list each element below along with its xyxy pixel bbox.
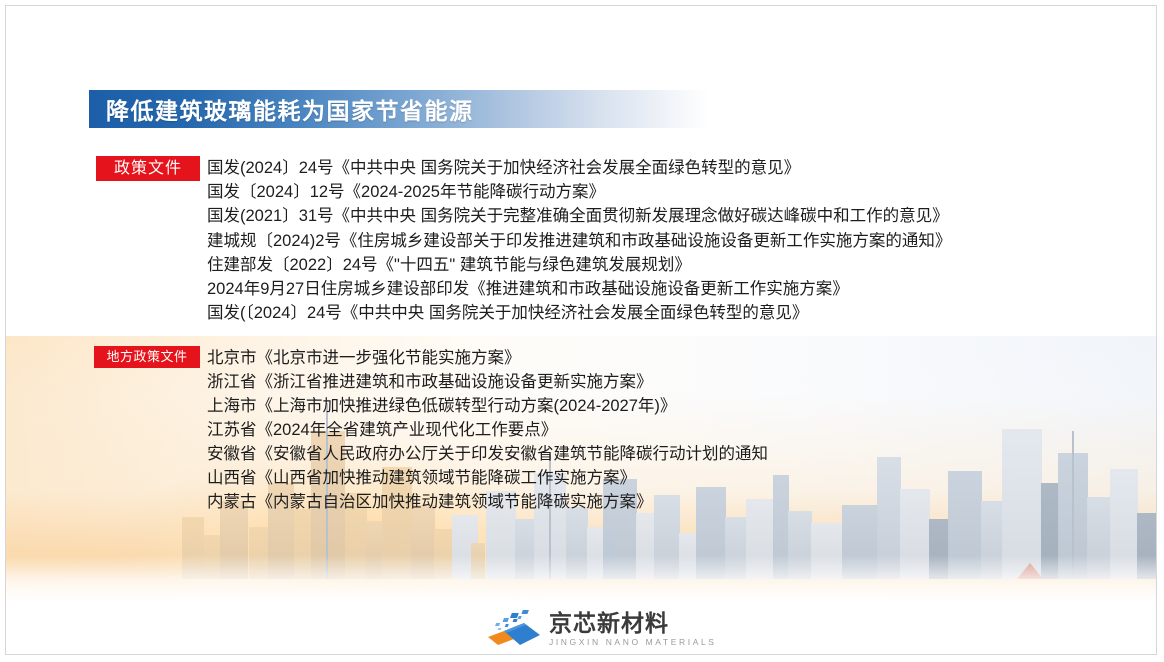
- list-item: 浙江省《浙江省推进建筑和市政基础设施设备更新实施方案》: [207, 370, 768, 394]
- local-policy-document-list: 北京市《北京市进一步强化节能实施方案》 浙江省《浙江省推进建筑和市政基础设施设备…: [207, 346, 768, 514]
- list-item: 安徽省《安徽省人民政府办公厅关于印发安徽省建筑节能降碳行动计划的通知: [207, 442, 768, 466]
- slide-canvas: 降低建筑玻璃能耗为国家节省能源 政策文件 国发(2024〕24号《中共中央 国务…: [5, 5, 1157, 655]
- list-item: 2024年9月27日住房城乡建设部印发《推进建筑和市政基础设施设备更新工作实施方…: [207, 277, 951, 301]
- list-item: 国发(2021〕31号《中共中央 国务院关于完整准确全面贯彻新发展理念做好碳达峰…: [207, 204, 951, 228]
- slide-title-bar: 降低建筑玻璃能耗为国家节省能源: [89, 90, 709, 128]
- policy-section-badge: 政策文件: [96, 156, 200, 181]
- list-item: 山西省《山西省加快推动建筑领域节能降碳工作实施方案》: [207, 466, 768, 490]
- list-item: 内蒙古《内蒙古自治区加快推动建筑领域节能降碳实施方案》: [207, 490, 768, 514]
- list-item: 国发(2024〕24号《中共中央 国务院关于加快经济社会发展全面绿色转型的意见》: [207, 156, 951, 180]
- logo-company-name-en: JINGXIN NANO MATERIALS: [549, 636, 717, 648]
- list-item: 国发(〔2024〕24号《中共中央 国务院关于加快经济社会发展全面绿色转型的意见…: [207, 301, 951, 325]
- list-item: 国发〔2024〕12号《2024-2025年节能降碳行动方案》: [207, 180, 951, 204]
- policy-document-list: 国发(2024〕24号《中共中央 国务院关于加快经济社会发展全面绿色转型的意见》…: [207, 156, 951, 325]
- list-item: 北京市《北京市进一步强化节能实施方案》: [207, 346, 768, 370]
- list-item: 建城规〔2024)2号《住房城乡建设部关于印发推进建筑和市政基础设施设备更新工作…: [207, 229, 951, 253]
- list-item: 住建部发〔2022〕24号《"十四五" 建筑节能与绿色建筑发展规划》: [207, 253, 951, 277]
- jingxin-logo-icon: [484, 607, 540, 649]
- logo-company-name-cn: 京芯新材料: [549, 611, 717, 636]
- ground-haze: [6, 555, 1156, 601]
- page-title: 降低建筑玻璃能耗为国家节省能源: [89, 92, 474, 126]
- list-item: 上海市《上海市加快推进绿色低碳转型行动方案(2024-2027年)》: [207, 394, 768, 418]
- list-item: 江苏省《2024年全省建筑产业现代化工作要点》: [207, 418, 768, 442]
- logo-wordmark: 京芯新材料 JINGXIN NANO MATERIALS: [549, 609, 717, 648]
- company-logo: 京芯新材料 JINGXIN NANO MATERIALS: [484, 604, 684, 652]
- local-policy-section-badge: 地方政策文件: [94, 346, 200, 368]
